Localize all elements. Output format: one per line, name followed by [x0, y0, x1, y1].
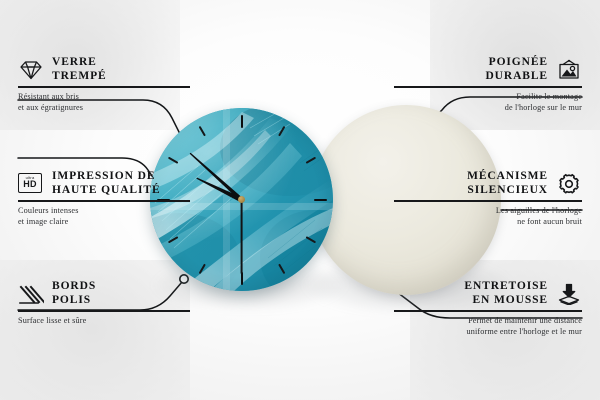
feature-title: BORDS POLIS	[52, 280, 96, 307]
feature-verre-trempe: VERRE TREMPÉ Résistant aux bris et aux é…	[18, 56, 190, 113]
feature-poignee-durable: POIGNÉE DURABLE Facilite le montage de l…	[394, 56, 582, 113]
polished-edges-icon	[18, 283, 44, 305]
feature-divider	[18, 200, 190, 202]
feature-description: Résistant aux bris et aux égratignures	[18, 92, 190, 113]
feature-entretoise-en-mousse: ENTRETOISE EN MOUSSE Permet de maintenir…	[394, 280, 582, 337]
ultra-hd-badge-icon: ultra HD	[18, 173, 44, 195]
feature-description: Les aiguilles de l'horloge ne font aucun…	[394, 206, 582, 227]
feature-title: MÉCANISME SILENCIEUX	[467, 170, 548, 197]
badge-hd-label: HD	[23, 180, 36, 189]
feature-description: Surface lisse et sûre	[18, 316, 190, 327]
clock-center-cap	[238, 196, 245, 203]
hour-tick	[241, 109, 243, 200]
hanging-picture-frame-icon	[556, 59, 582, 81]
feature-description: Facilite le montage de l'horloge sur le …	[394, 92, 582, 113]
feature-title: IMPRESSION DE HAUTE QUALITÉ	[52, 170, 161, 197]
clock-second-hand	[241, 200, 243, 274]
feature-bords-polis: BORDS POLIS Surface lisse et sûre	[18, 280, 190, 327]
hour-tick	[242, 199, 333, 201]
infographic-canvas: AA	[0, 0, 600, 400]
diamond-icon	[18, 59, 44, 81]
feature-divider	[394, 200, 582, 202]
arrow-into-stack-icon	[556, 283, 582, 305]
gear-icon	[556, 173, 582, 195]
feature-divider	[394, 86, 582, 88]
feature-description: Permet de maintenir une distance uniform…	[394, 316, 582, 337]
feature-divider	[18, 310, 190, 312]
feature-impression-haute-qualite: ultra HD IMPRESSION DE HAUTE QUALITÉ Cou…	[18, 170, 190, 227]
feature-title: POIGNÉE DURABLE	[485, 56, 548, 83]
feature-description: Couleurs intenses et image claire	[18, 206, 190, 227]
feature-title: ENTRETOISE EN MOUSSE	[464, 280, 548, 307]
feature-title: VERRE TREMPÉ	[52, 56, 107, 83]
feature-divider	[394, 310, 582, 312]
feature-mecanisme-silencieux: MÉCANISME SILENCIEUX Les aiguilles de l'…	[394, 170, 582, 227]
feature-divider	[18, 86, 190, 88]
